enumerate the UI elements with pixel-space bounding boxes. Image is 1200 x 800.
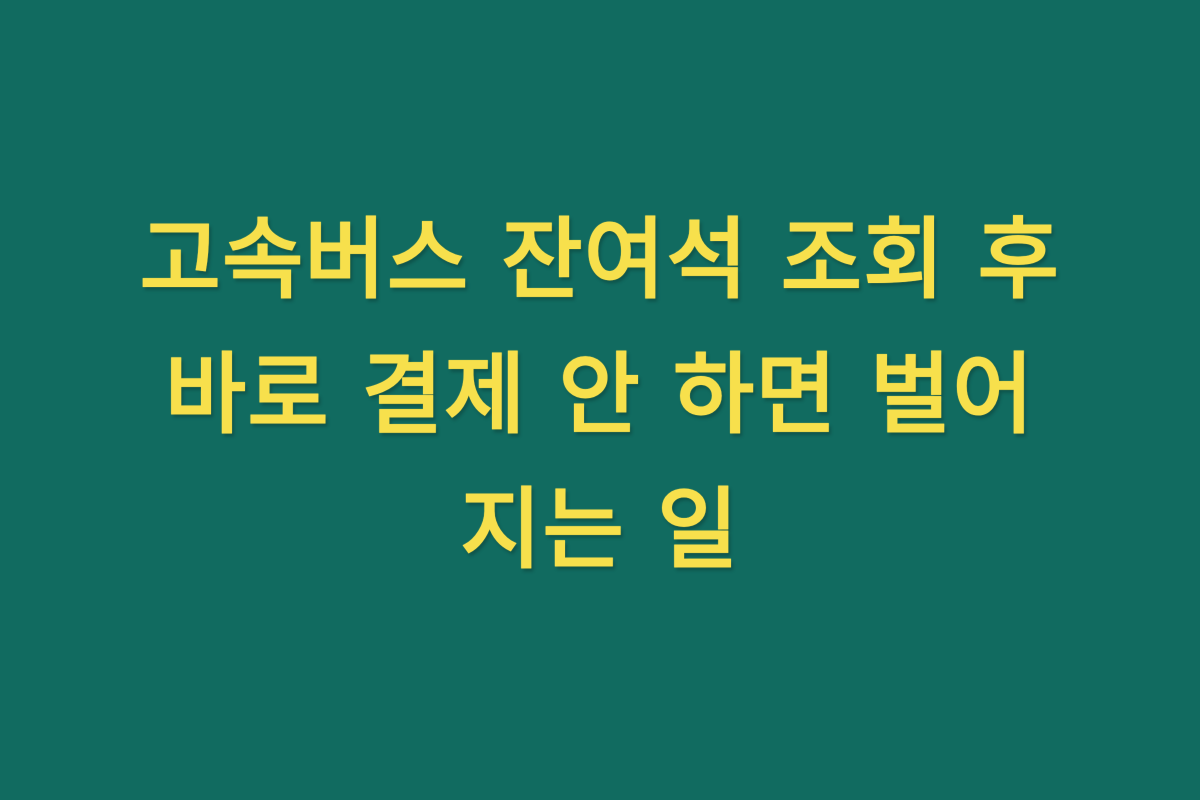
- headline-line-1: 고속버스 잔여석 조회 후: [70, 192, 1130, 327]
- headline-line-3: 지는 일: [70, 462, 1130, 597]
- thumbnail-canvas: 고속버스 잔여석 조회 후 바로 결제 안 하면 벌어 지는 일: [0, 0, 1200, 800]
- headline-line-2: 바로 결제 안 하면 벌어: [70, 327, 1130, 462]
- headline-text-block: 고속버스 잔여석 조회 후 바로 결제 안 하면 벌어 지는 일: [70, 192, 1130, 597]
